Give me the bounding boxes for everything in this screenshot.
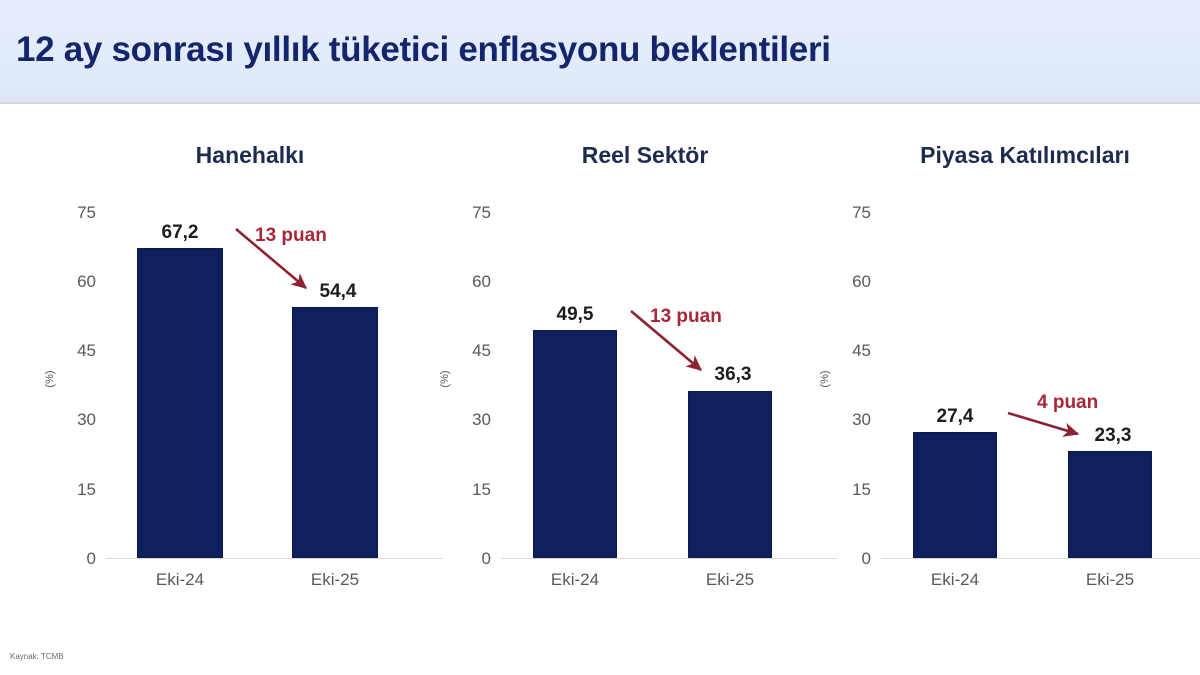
decline-arrow-icon bbox=[50, 130, 450, 620]
page-title: 12 ay sonrası yıllık tüketici enflasyonu… bbox=[16, 30, 831, 70]
decline-arrow-icon bbox=[445, 130, 845, 620]
chart-panel-piyasa-katilimcilari: Piyasa Katılımcıları 75 60 45 30 15 0 (%… bbox=[825, 130, 1200, 620]
plot-area: 75 60 45 30 15 0 (%) 49,5 36,3 Eki-24 Ek… bbox=[445, 130, 845, 620]
header-band: 12 ay sonrası yıllık tüketici enflasyonu… bbox=[0, 0, 1200, 104]
chart-panel-hanehalki: Hanehalkı 75 60 45 30 15 0 (%) 67,2 54,4… bbox=[50, 130, 450, 620]
source-note: Kaynak: TCMB bbox=[10, 652, 64, 661]
decline-arrow-icon bbox=[825, 130, 1200, 620]
chart-panel-reel-sektor: Reel Sektör 75 60 45 30 15 0 (%) 49,5 36… bbox=[445, 130, 845, 620]
plot-area: 75 60 45 30 15 0 (%) 67,2 54,4 Eki-24 Ek… bbox=[50, 130, 450, 620]
plot-area: 75 60 45 30 15 0 (%) 27,4 23,3 Eki-24 Ek… bbox=[825, 130, 1200, 620]
